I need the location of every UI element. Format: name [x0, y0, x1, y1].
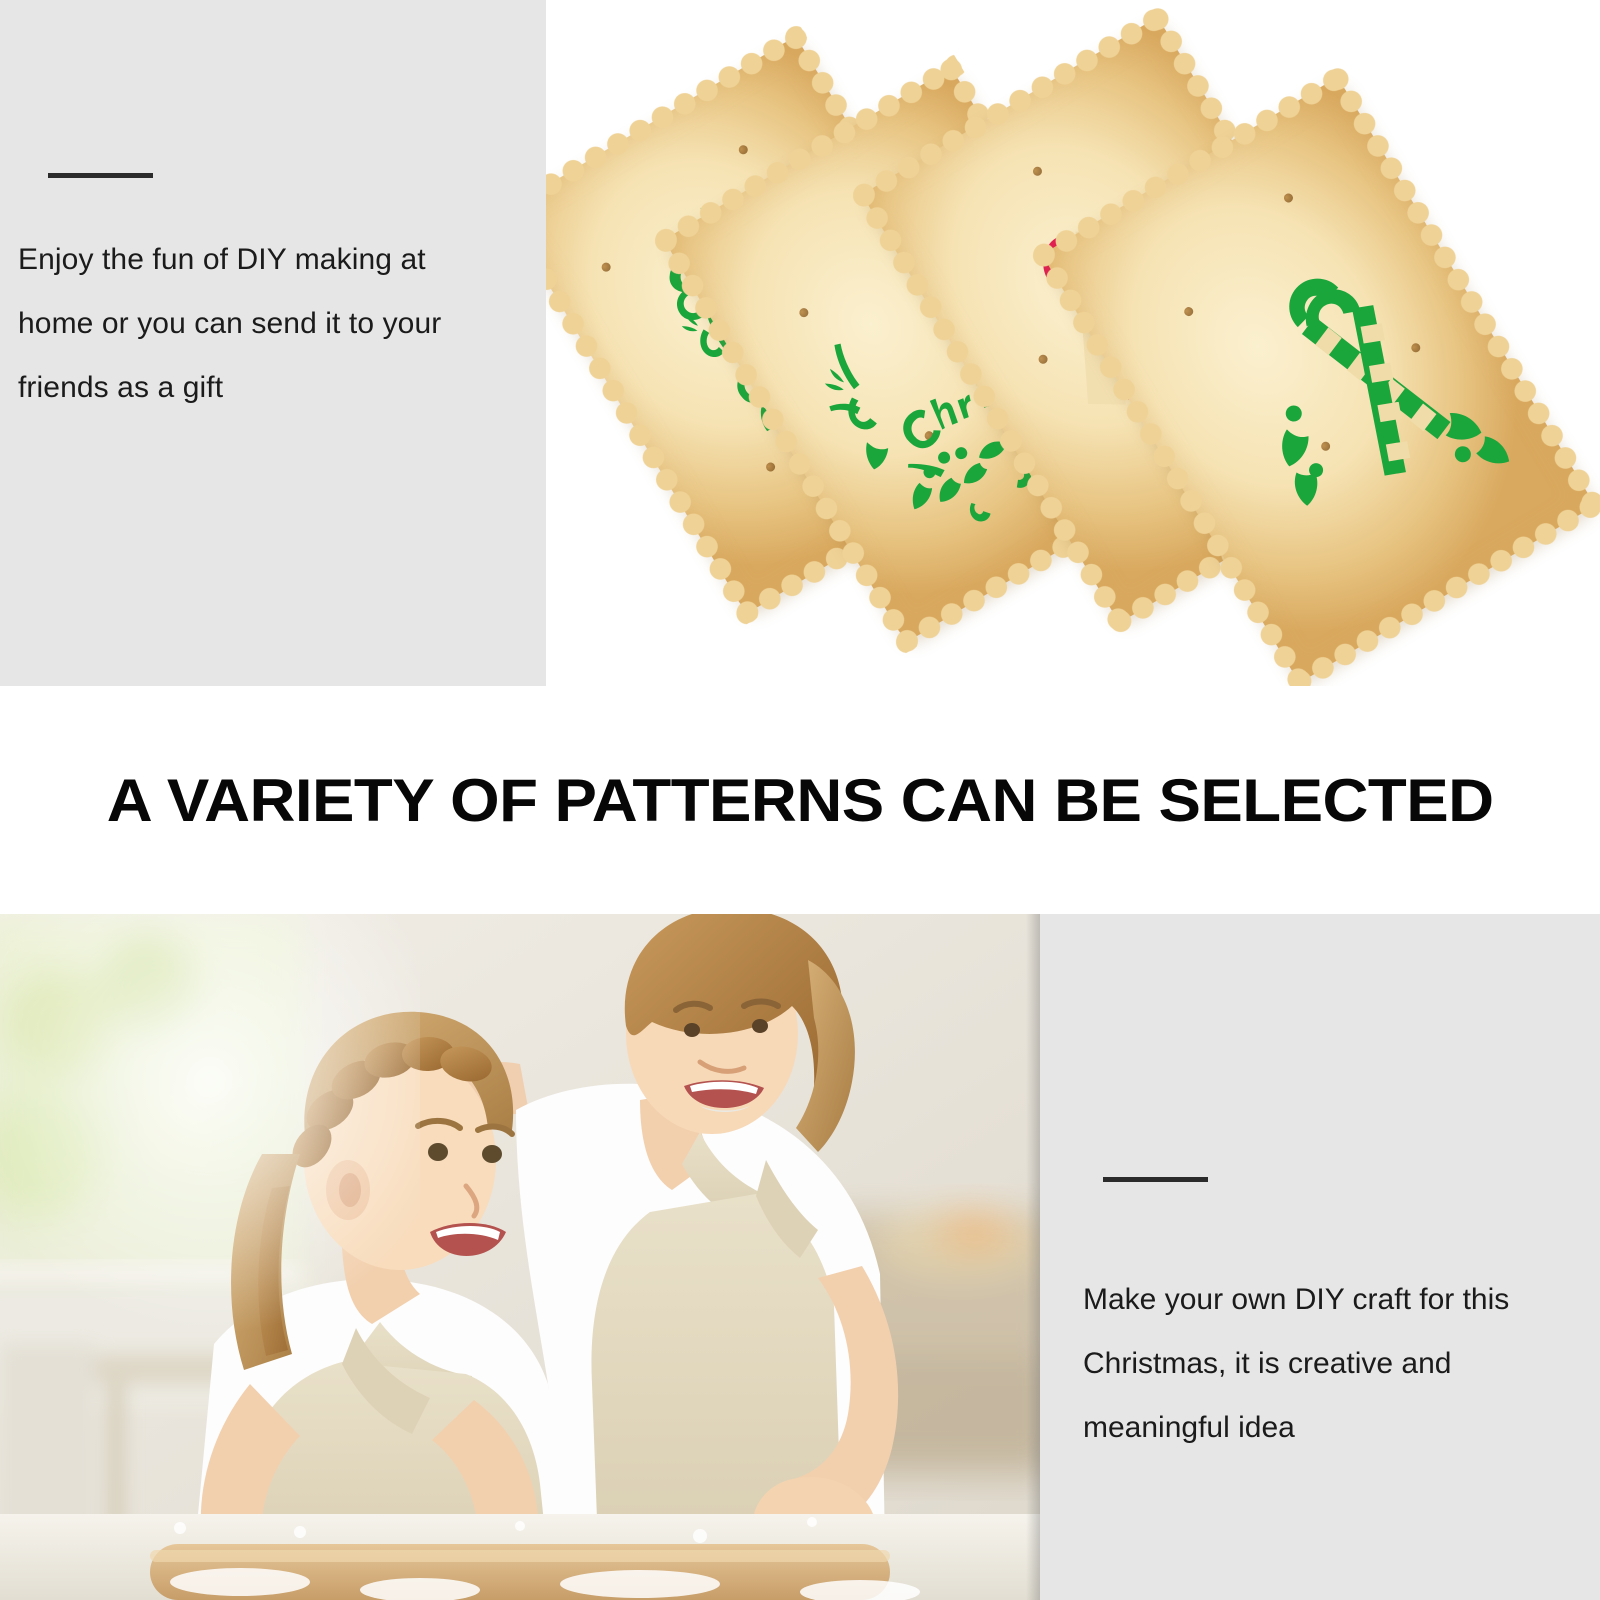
- kitchen-scene: [0, 914, 1040, 1600]
- bottom-body-text: Make your own DIY craft for this Christm…: [1083, 1268, 1583, 1460]
- bottom-section: [0, 914, 1600, 1600]
- cookies-photo: [546, 0, 1600, 686]
- cookie-arrangement: [546, 0, 1600, 686]
- top-text-panel: Enjoy the fun of DIY making at home or y…: [0, 0, 546, 686]
- kitchen-photo: [0, 914, 1040, 1600]
- bottom-text-panel: [1040, 914, 1600, 1600]
- divider-line: [1103, 1177, 1208, 1182]
- page-title: A VARIETY OF PATTERNS CAN BE SELECTED: [107, 766, 1494, 835]
- product-infographic: Enjoy the fun of DIY making at home or y…: [0, 0, 1600, 1600]
- top-body-text: Enjoy the fun of DIY making at home or y…: [18, 228, 508, 420]
- top-section: Enjoy the fun of DIY making at home or y…: [0, 0, 1600, 686]
- divider-line: [48, 173, 153, 178]
- headline-band: A VARIETY OF PATTERNS CAN BE SELECTED: [0, 686, 1600, 914]
